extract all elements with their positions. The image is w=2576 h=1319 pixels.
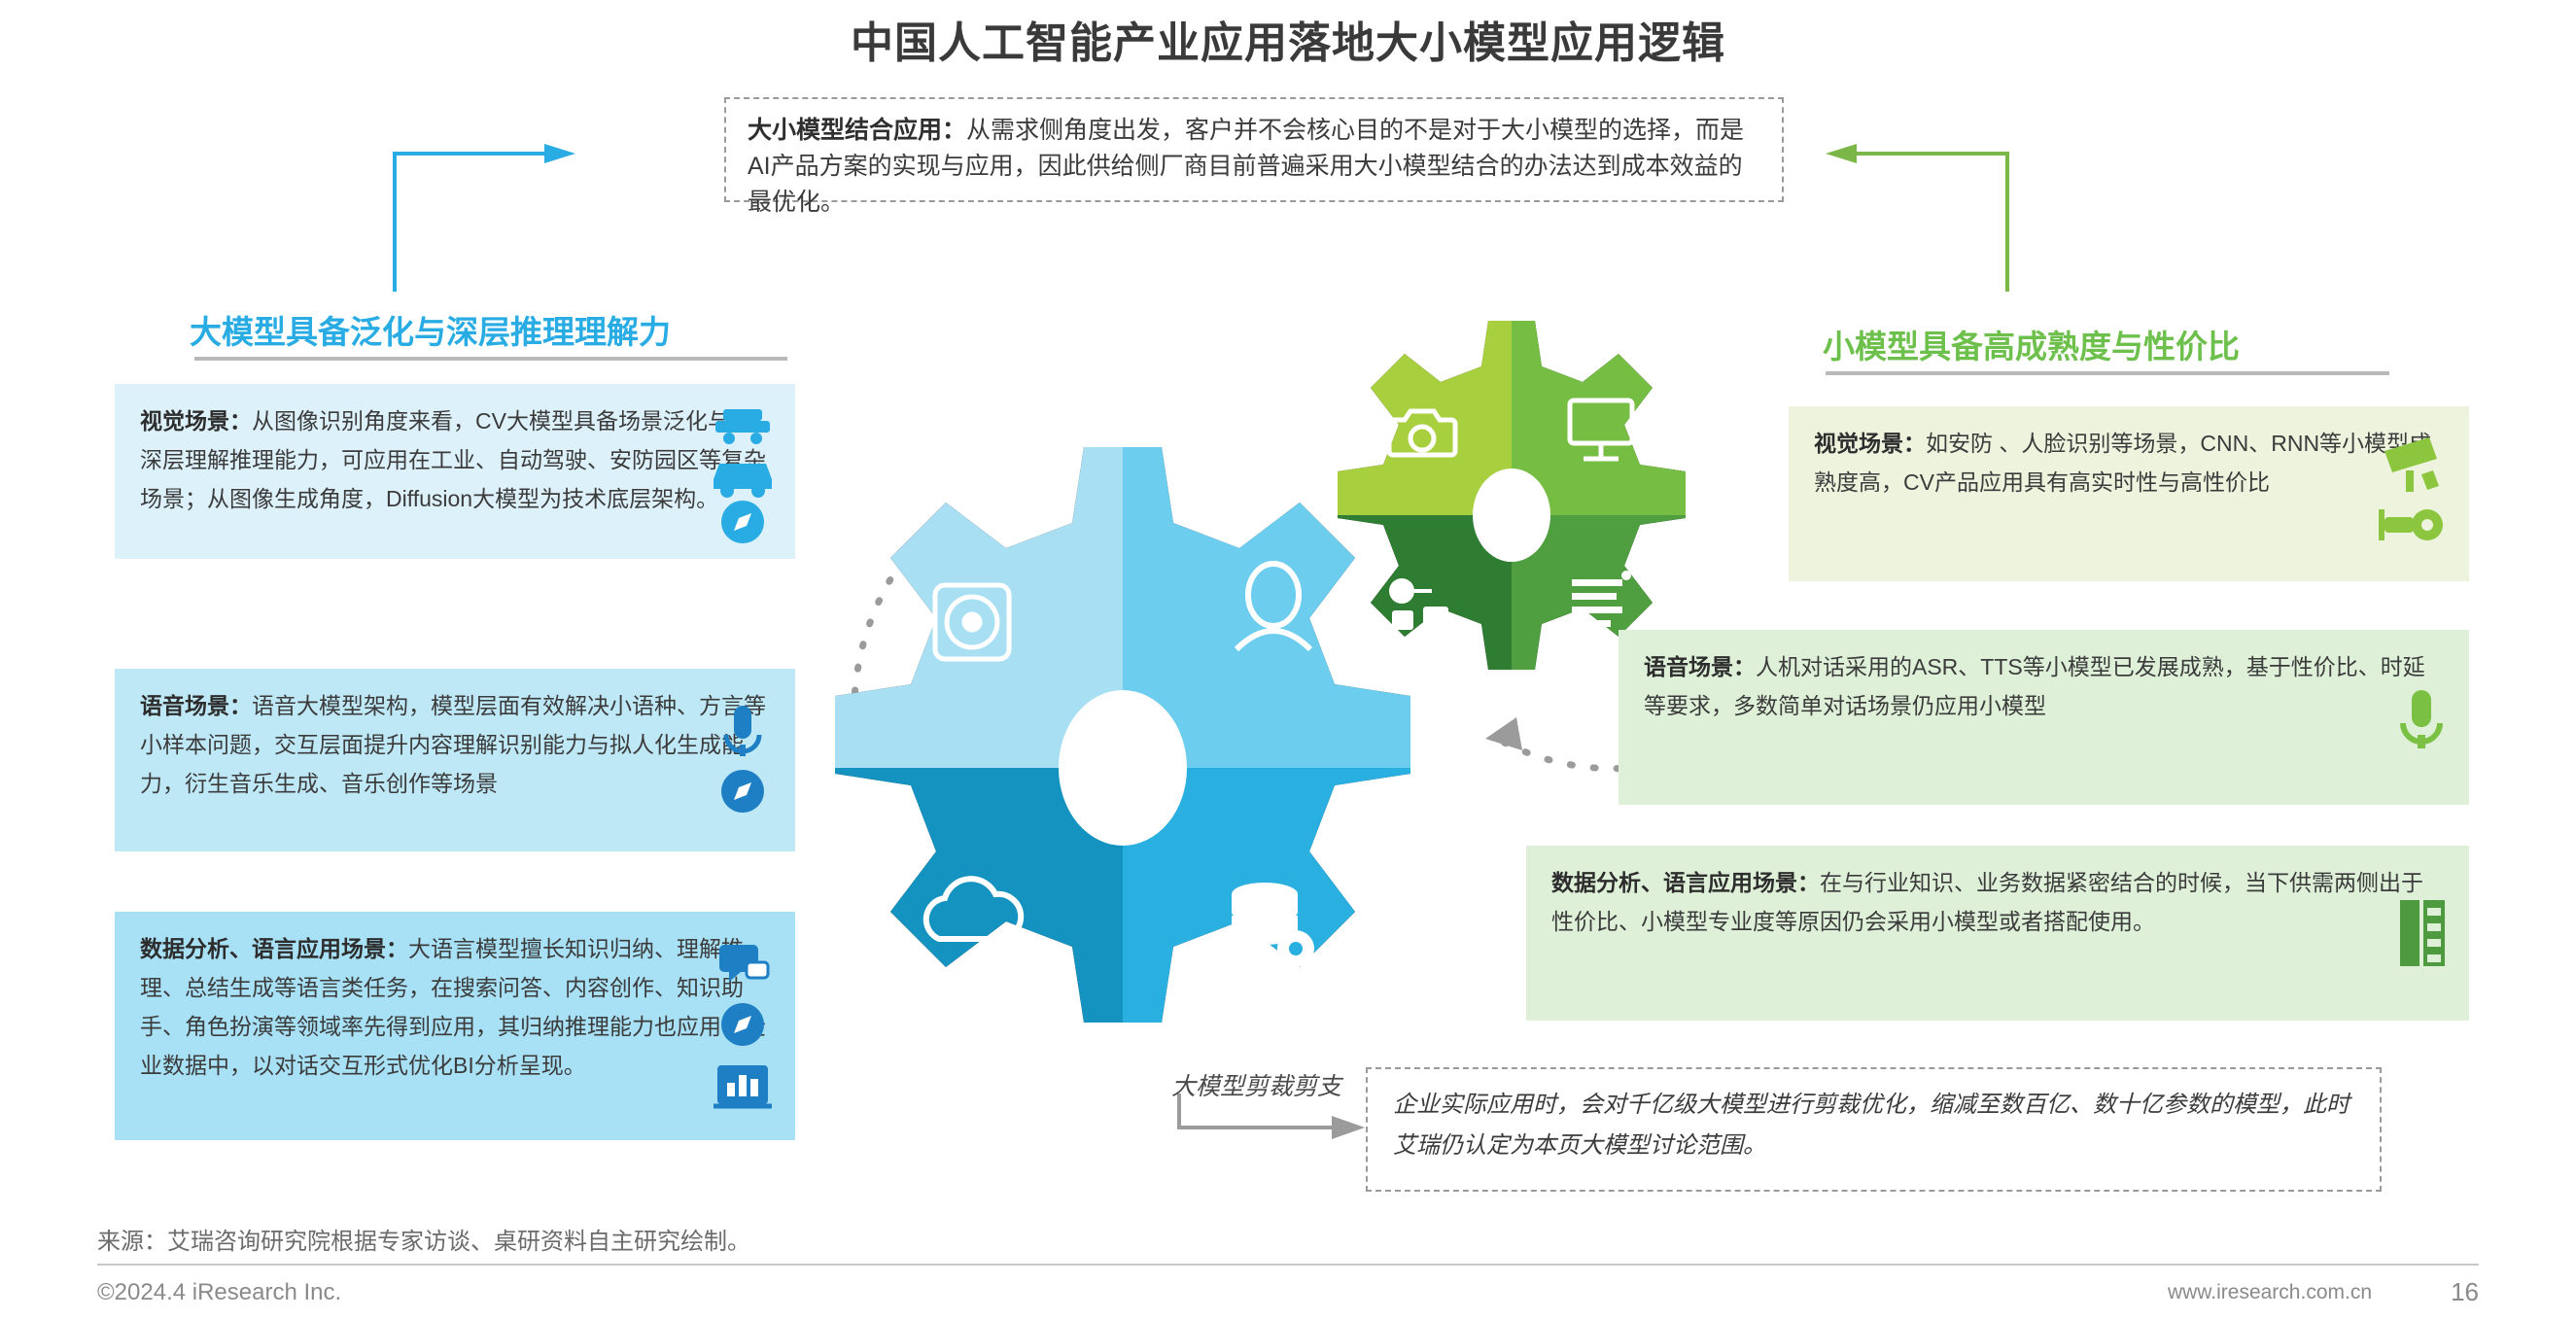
- card-label: 语音场景：: [140, 693, 252, 718]
- presentation-icon: [714, 1065, 772, 1106]
- left-column-header: 大模型具备泛化与深层推理理解力: [190, 306, 787, 361]
- compass-icon: [721, 770, 764, 813]
- right-card-1-icons: [2368, 432, 2455, 558]
- footer-divider: [97, 1264, 2479, 1266]
- left-card-3-icons: [704, 935, 782, 1120]
- left-header-rule: [194, 357, 787, 361]
- compass-icon: [721, 501, 764, 543]
- cctv-camera-icon: [2385, 437, 2439, 492]
- page-title: 中国人工智能产业应用落地大小模型应用逻辑: [0, 8, 2576, 70]
- card-text: 视觉场景：从图像识别角度来看，CV大模型具备场景泛化与更深层理解推理能力，可应用…: [140, 401, 770, 518]
- right-card-visual: 视觉场景：如安防 、人脸识别等场景，CNN、RNN等小模型成熟度高，CV产品应用…: [1789, 406, 2469, 581]
- right-card-data: 数据分析、语言应用场景：在与行业知识、业务数据紧密结合的时候，当下供需两侧出于性…: [1526, 846, 2469, 1021]
- right-card-3-icons: [2387, 892, 2455, 980]
- database-gear-icon: [1232, 883, 1314, 967]
- bottom-callout-text: 企业实际应用时，会对千亿级大模型进行剪裁优化，缩减至数百亿、数十亿参数的模型，此…: [1393, 1085, 2354, 1166]
- right-column-header: 小模型具备高成熟度与性价比: [1823, 321, 2389, 375]
- left-card-2-icons: [704, 698, 782, 824]
- card-text: 语音场景：语音大模型架构，模型层面有效解决小语种、方言等小样本问题，交互层面提升…: [140, 686, 770, 803]
- server-icon: [2400, 900, 2445, 966]
- user-icon: [1236, 564, 1310, 649]
- top-callout-text: 大小模型结合应用：从需求侧角度出发，客户并不会核心目的不是对于大小模型的选择，而…: [748, 113, 1760, 221]
- page-number: 16: [2451, 1277, 2479, 1307]
- right-card-2-icons: [2387, 680, 2455, 768]
- right-column-title: 小模型具备高成熟度与性价比: [1823, 321, 2389, 367]
- cloud-icon: [926, 879, 1021, 939]
- prune-label: 大模型剪裁剪支: [1171, 1067, 1341, 1102]
- slide-page: 中国人工智能产业应用落地大小模型应用逻辑: [0, 0, 2576, 1319]
- microphone-icon: [2403, 690, 2440, 748]
- camera-lens-icon: [935, 585, 1009, 659]
- top-callout-box: 大小模型结合应用：从需求侧角度出发，客户并不会核心目的不是对于大小模型的选择，而…: [724, 97, 1784, 202]
- document-list-icon: [1572, 571, 1631, 627]
- left-card-visual: 视觉场景：从图像识别角度来看，CV大模型具备场景泛化与更深层理解推理能力，可应用…: [115, 384, 795, 559]
- card-label: 视觉场景：: [1814, 431, 1926, 456]
- left-card-1-icons: [704, 403, 782, 549]
- card-label: 视觉场景：: [140, 408, 252, 434]
- card-text: 数据分析、语言应用场景：在与行业知识、业务数据紧密结合的时候，当下供需两侧出于性…: [1551, 863, 2444, 941]
- top-callout-label: 大小模型结合应用：: [748, 117, 966, 144]
- right-header-rule: [1826, 371, 2389, 375]
- microphone-icon: [726, 706, 759, 756]
- camera-icon: [1389, 411, 1455, 455]
- card-text: 视觉场景：如安防 、人脸识别等场景，CNN、RNN等小模型成熟度高，CV产品应用…: [1814, 424, 2444, 502]
- sensor-node-icon: [1389, 578, 1448, 630]
- left-card-data: 数据分析、语言应用场景：大语言模型擅长知识归纳、理解推理、总结生成等语言类任务，…: [115, 912, 795, 1140]
- scanner-icon: [715, 409, 770, 444]
- small-gear: [1338, 321, 1686, 670]
- left-column-title: 大模型具备泛化与深层推理理解力: [190, 306, 787, 353]
- big-gear: [835, 447, 1410, 1023]
- bottom-callout-box: 企业实际应用时，会对千亿级大模型进行剪裁优化，缩减至数百亿、数十亿参数的模型，此…: [1366, 1067, 2382, 1192]
- chat-icon: [719, 945, 768, 982]
- car-icon: [714, 464, 772, 498]
- source-note: 来源：艾瑞咨询研究院根据专家访谈、桌研资料自主研究绘制。: [97, 1222, 750, 1256]
- card-text: 语音场景：人机对话采用的ASR、TTS等小模型已发展成熟，基于性价比、时延等要求…: [1644, 647, 2444, 725]
- card-text: 数据分析、语言应用场景：大语言模型擅长知识归纳、理解推理、总结生成等语言类任务，…: [140, 929, 770, 1085]
- left-card-voice: 语音场景：语音大模型架构，模型层面有效解决小语种、方言等小样本问题，交互层面提升…: [115, 669, 795, 851]
- sensor-icon: [2379, 509, 2443, 540]
- compass-icon: [721, 1003, 764, 1046]
- right-card-voice: 语音场景：人机对话采用的ASR、TTS等小模型已发展成熟，基于性价比、时延等要求…: [1619, 630, 2469, 805]
- monitor-icon: [1570, 400, 1632, 459]
- card-body: 人机对话采用的ASR、TTS等小模型已发展成熟，基于性价比、时延等要求，多数简单…: [1644, 654, 2425, 718]
- website-url: www.iresearch.com.cn: [2168, 1281, 2372, 1304]
- card-label: 数据分析、语言应用场景：: [1551, 870, 1820, 895]
- card-label: 语音场景：: [1644, 654, 1756, 679]
- copyright: ©2024.4 iResearch Inc.: [97, 1279, 341, 1306]
- card-label: 数据分析、语言应用场景：: [140, 936, 408, 961]
